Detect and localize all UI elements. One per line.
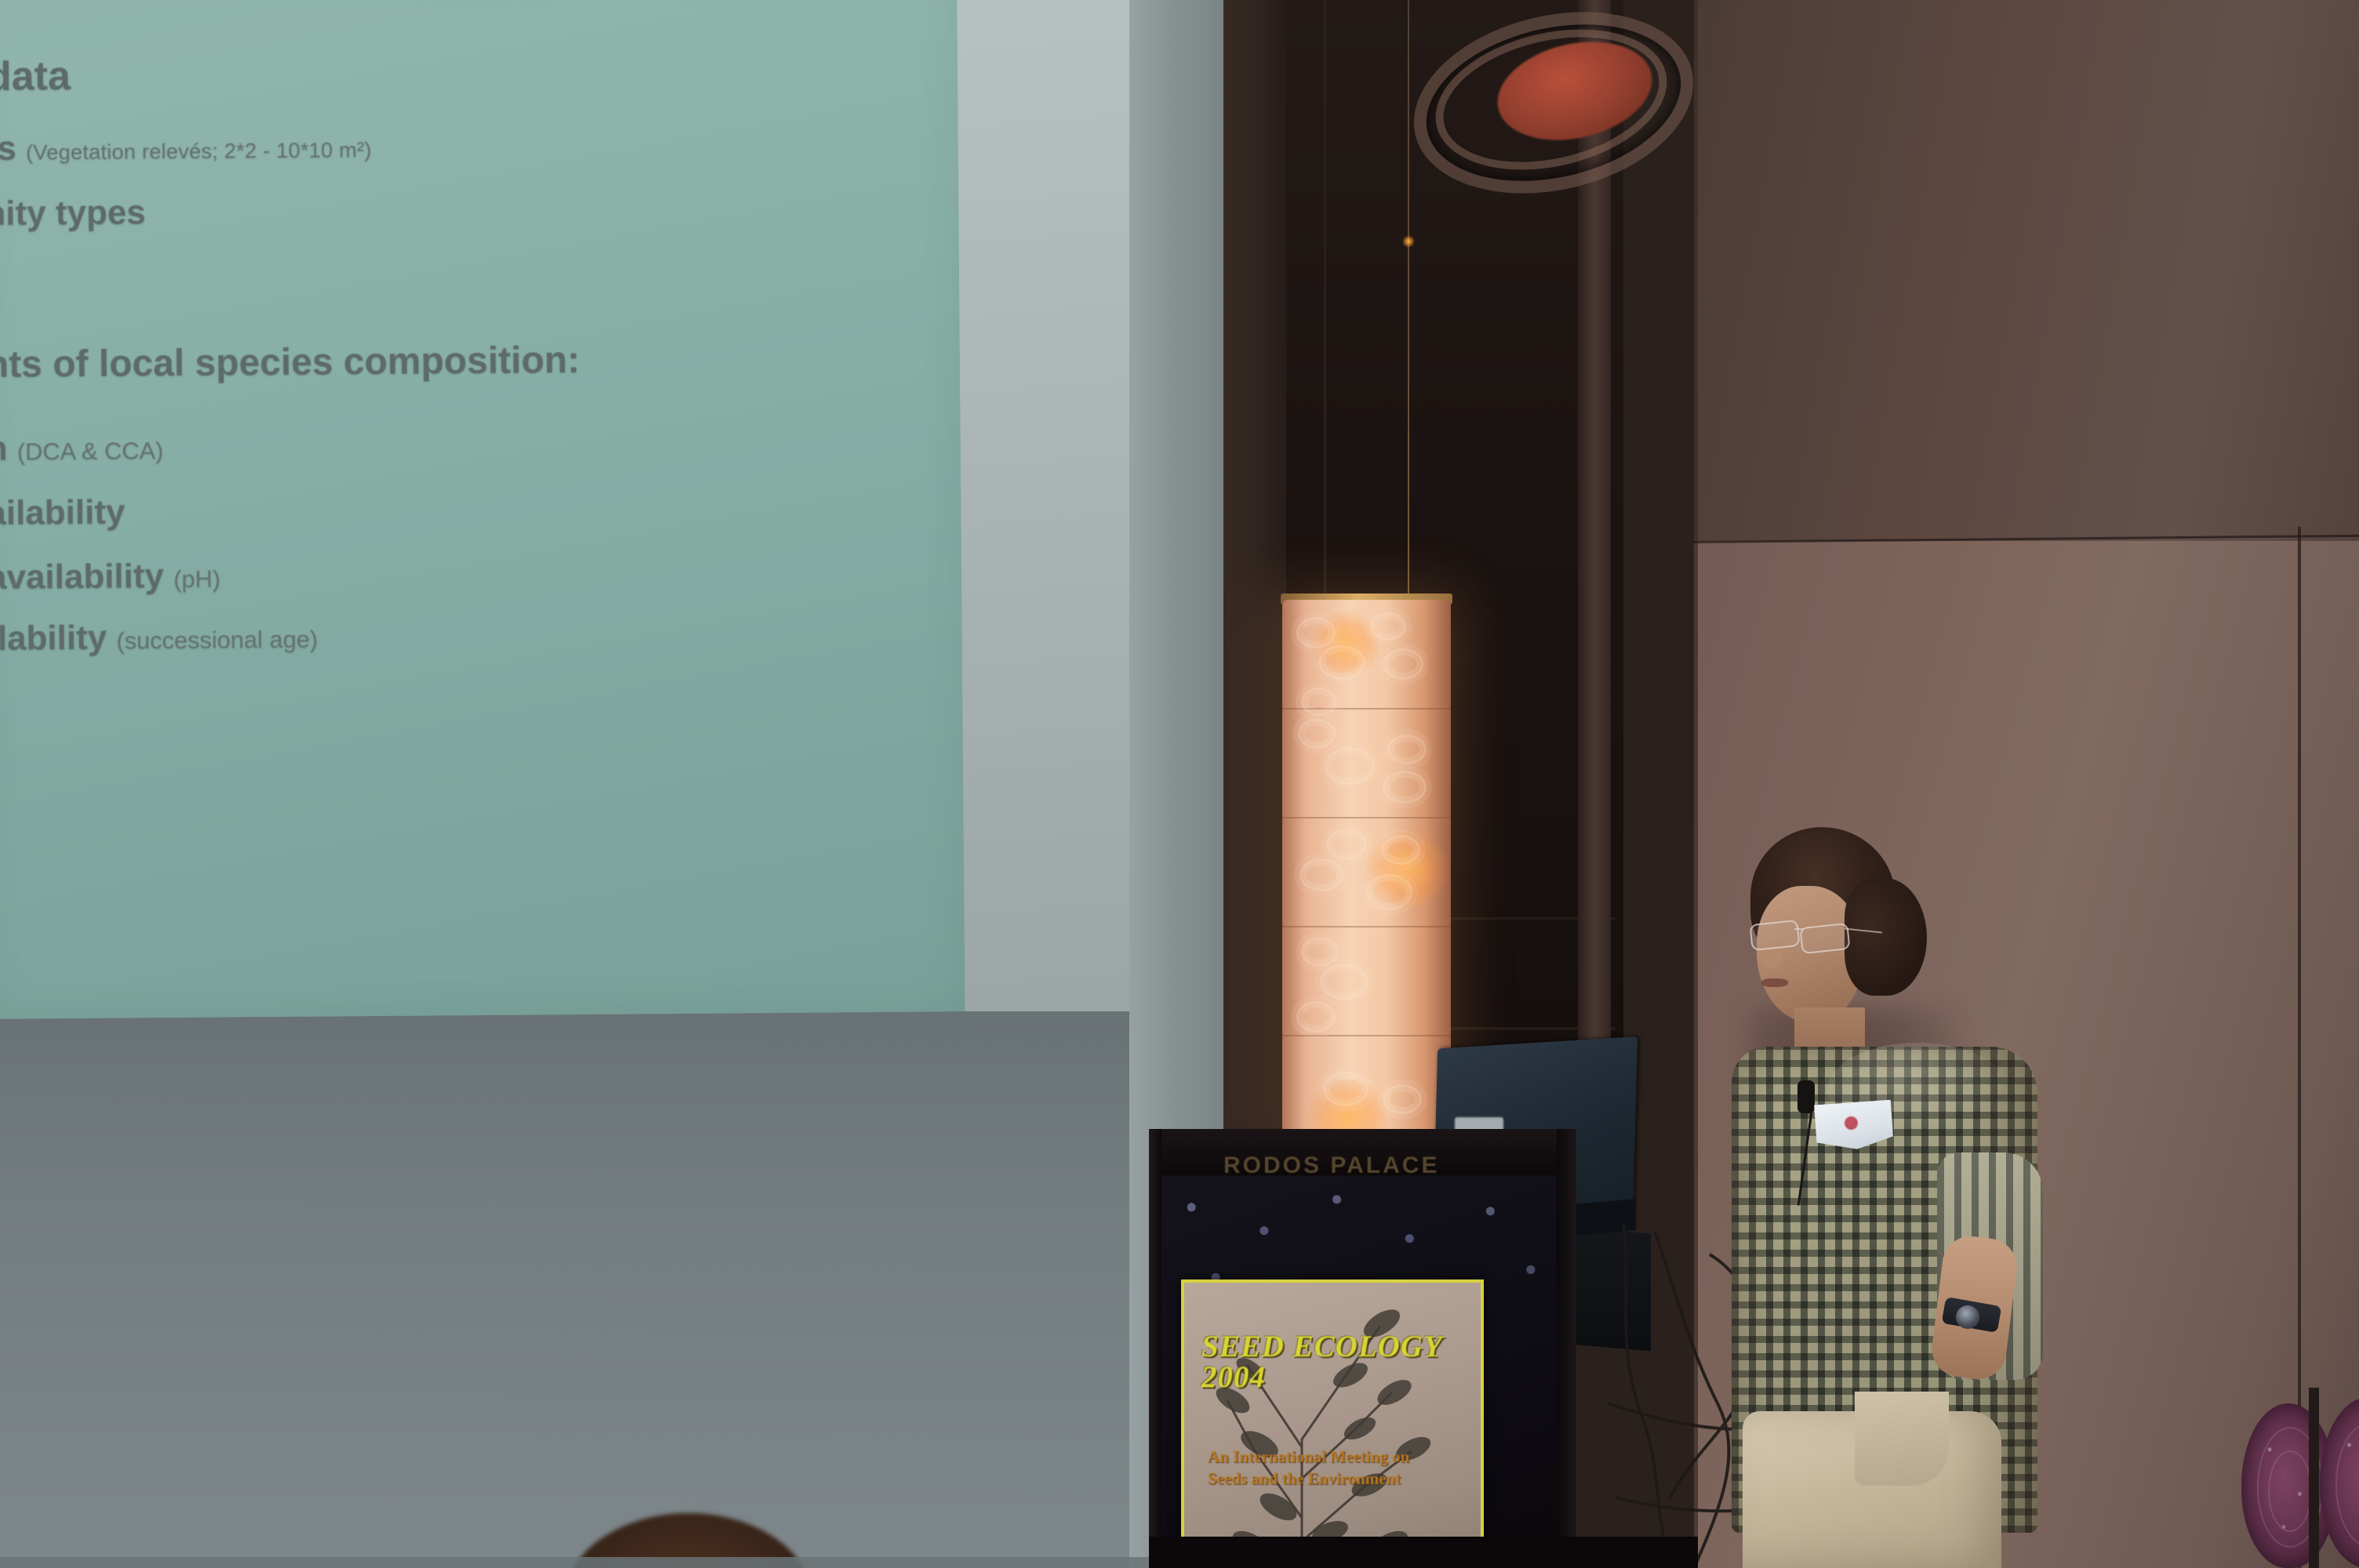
lamp-rose-relief [1370,612,1406,641]
eyeglasses-left-lens [1749,920,1800,951]
poster-subtitle-line-1: An International Meeting on [1208,1446,1467,1468]
lapel-microphone-icon [1797,1080,1815,1113]
lamp-rose-relief [1326,829,1367,860]
lamp-rose-relief [1325,747,1375,785]
screen-base-line [0,1557,1153,1568]
lamp-segment-line-4 [1282,1035,1451,1036]
slide-line-nutrient-note: (pH) [173,565,220,593]
lamp-rose-relief [1301,937,1339,967]
lamp-rose-relief [1323,1072,1369,1106]
slide-line-ordination-note: (DCA & CCA) [17,437,164,465]
eyeglasses-bridge [1794,928,1804,930]
poster-title: SEED ECOLOGY 2004 [1201,1331,1468,1392]
slide-line-ordination: n (DCA & CCA) [0,428,164,469]
projection-screen-lower-shadow [0,1011,1149,1568]
conference-poster: SEED ECOLOGY 2004 An International Meeti… [1181,1279,1484,1568]
ring-ceiling-light [1412,0,1670,227]
conference-photo-scene: data ts (Vegetation relevés; 2*2 - 10*10… [0,0,2359,1568]
lamp-rose-relief [1296,1001,1336,1033]
slide-line-nutrient-availability: availability (pH) [0,557,220,597]
speaker-trouser-pocket [1855,1392,1949,1486]
lamp-rose-relief [1320,964,1369,1000]
slide-line-seed-availability: ilability (successional age) [0,617,318,659]
poster-plant-illustration [1184,1283,1481,1568]
slide-line-determinants: nts of local species composition: [0,339,580,387]
lamp-segment-line-3 [1282,926,1451,927]
venue-brand-label: RODOS PALACE [1223,1152,1521,1184]
slide-line-plots: ts (Vegetation relevés; 2*2 - 10*10 m²) [0,126,372,169]
slide-line-plots-note: (Vegetation relevés; 2*2 - 10*10 m²) [26,137,372,164]
floor-shadow-strip [1149,1537,1698,1568]
poster-subtitle-line-2: Seeds and the Environment [1208,1468,1467,1490]
name-badge-logo-icon [1845,1116,1858,1130]
wire-light-glint-icon [1402,235,1415,248]
lectern-left-edge [1149,1129,1161,1568]
eyeglasses-temple [1845,927,1882,933]
glitter-wall-flower-divider [2309,1388,2319,1568]
lamp-rose-relief [1383,771,1427,804]
slide-line-light-availability: ailability [0,493,125,533]
lamp-rose-relief [1383,648,1423,680]
illuminated-column-lamp [1282,600,1451,1149]
poster-subtitle: An International Meeting on Seeds and th… [1208,1446,1467,1490]
lamp-rose-relief [1296,617,1336,648]
slide-line-community-types: nity types [0,193,146,234]
lamp-rose-relief [1383,1084,1422,1114]
lamp-suspension-wire [1408,0,1409,619]
lamp-rose-relief [1301,688,1337,716]
lamp-rose-relief [1298,719,1336,749]
slide-text-block: data ts (Vegetation relevés; 2*2 - 10*10… [0,0,965,1019]
projected-slide: data ts (Vegetation relevés; 2*2 - 10*10… [0,0,965,1019]
slide-line-title: data [0,53,71,100]
lamp-rose-relief [1299,858,1343,891]
lamp-rose-relief [1365,874,1412,910]
lamp-rose-relief [1387,735,1427,764]
lectern-right-edge [1557,1129,1576,1568]
right-wall-upper-panel [1694,0,2359,541]
lamp-rose-relief [1318,645,1365,680]
eyeglasses-icon [1747,922,1881,947]
lamp-rose-relief [1381,835,1420,865]
speaker-mouth [1761,978,1788,987]
glitter-wall-flower-left-ring-2 [2268,1450,2312,1532]
eyeglasses-right-lens [1799,923,1850,954]
lamp-segment-line-2 [1282,817,1451,818]
slide-line-seed-note: (successional age) [116,626,318,655]
